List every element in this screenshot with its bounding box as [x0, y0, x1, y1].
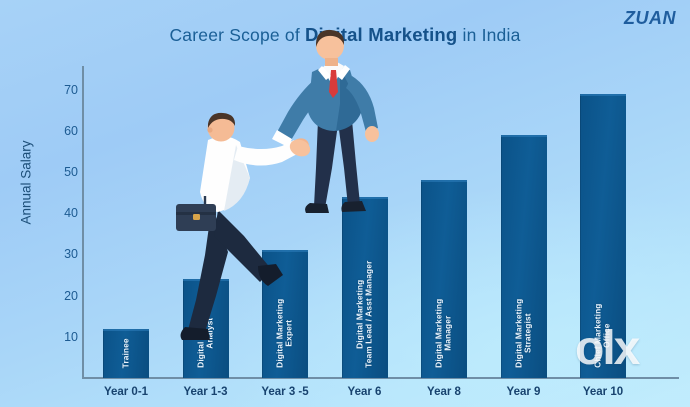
- bar-label-line: Manager: [444, 299, 453, 368]
- bar-label-line: Team Lead / Asst Manager: [364, 261, 373, 368]
- bar-label-line: Expert: [285, 299, 294, 368]
- bar-1[interactable]: Trainee: [103, 329, 149, 378]
- bar-label-line: Trainee: [121, 338, 130, 368]
- bar-label-line: Analyst: [205, 299, 214, 368]
- x-tick-label-4: Year 6: [348, 386, 382, 398]
- bar-4[interactable]: Digital MarketingTeam Lead / Asst Manage…: [342, 197, 388, 378]
- bar-label: Digital MarketingTeam Lead / Asst Manage…: [355, 261, 374, 368]
- bar-top-highlight: [421, 180, 467, 182]
- bar-top-highlight: [262, 250, 308, 252]
- x-tick-label-1: Year 0-1: [104, 386, 148, 398]
- x-tick-label-2: Year 1-3: [183, 386, 227, 398]
- bar-2[interactable]: Digital MarketingAnalyst: [183, 279, 229, 378]
- olx-watermark: olx: [575, 325, 638, 373]
- bar-top-highlight: [580, 94, 626, 96]
- x-tick-label-5: Year 8: [427, 386, 461, 398]
- x-tick-label-3: Year 3 -5: [261, 386, 308, 398]
- infographic-canvas: Career Scope of Digital Marketing in Ind…: [0, 0, 690, 407]
- bar-top-highlight: [342, 197, 388, 199]
- bar-label: Trainee: [121, 338, 130, 368]
- bar-top-highlight: [103, 329, 149, 331]
- bar-label: Digital MarketingStrategist: [514, 299, 533, 368]
- x-tick-label-6: Year 9: [507, 386, 541, 398]
- bar-top-highlight: [501, 135, 547, 137]
- bar-label-line: Strategist: [523, 299, 532, 368]
- bar-3[interactable]: Digital MarketingExpert: [262, 250, 308, 378]
- x-axis-labels: Year 0-1Year 1-3Year 3 -5Year 6Year 8Yea…: [0, 386, 690, 406]
- bar-label: Digital MarketingManager: [435, 299, 454, 368]
- bar-label: Digital MarketingExpert: [276, 299, 295, 368]
- bar-label: Digital MarketingAnalyst: [196, 299, 215, 368]
- bar-5[interactable]: Digital MarketingManager: [421, 180, 467, 378]
- bar-6[interactable]: Digital MarketingStrategist: [501, 135, 547, 378]
- x-tick-label-7: Year 10: [583, 386, 623, 398]
- bar-top-highlight: [183, 279, 229, 281]
